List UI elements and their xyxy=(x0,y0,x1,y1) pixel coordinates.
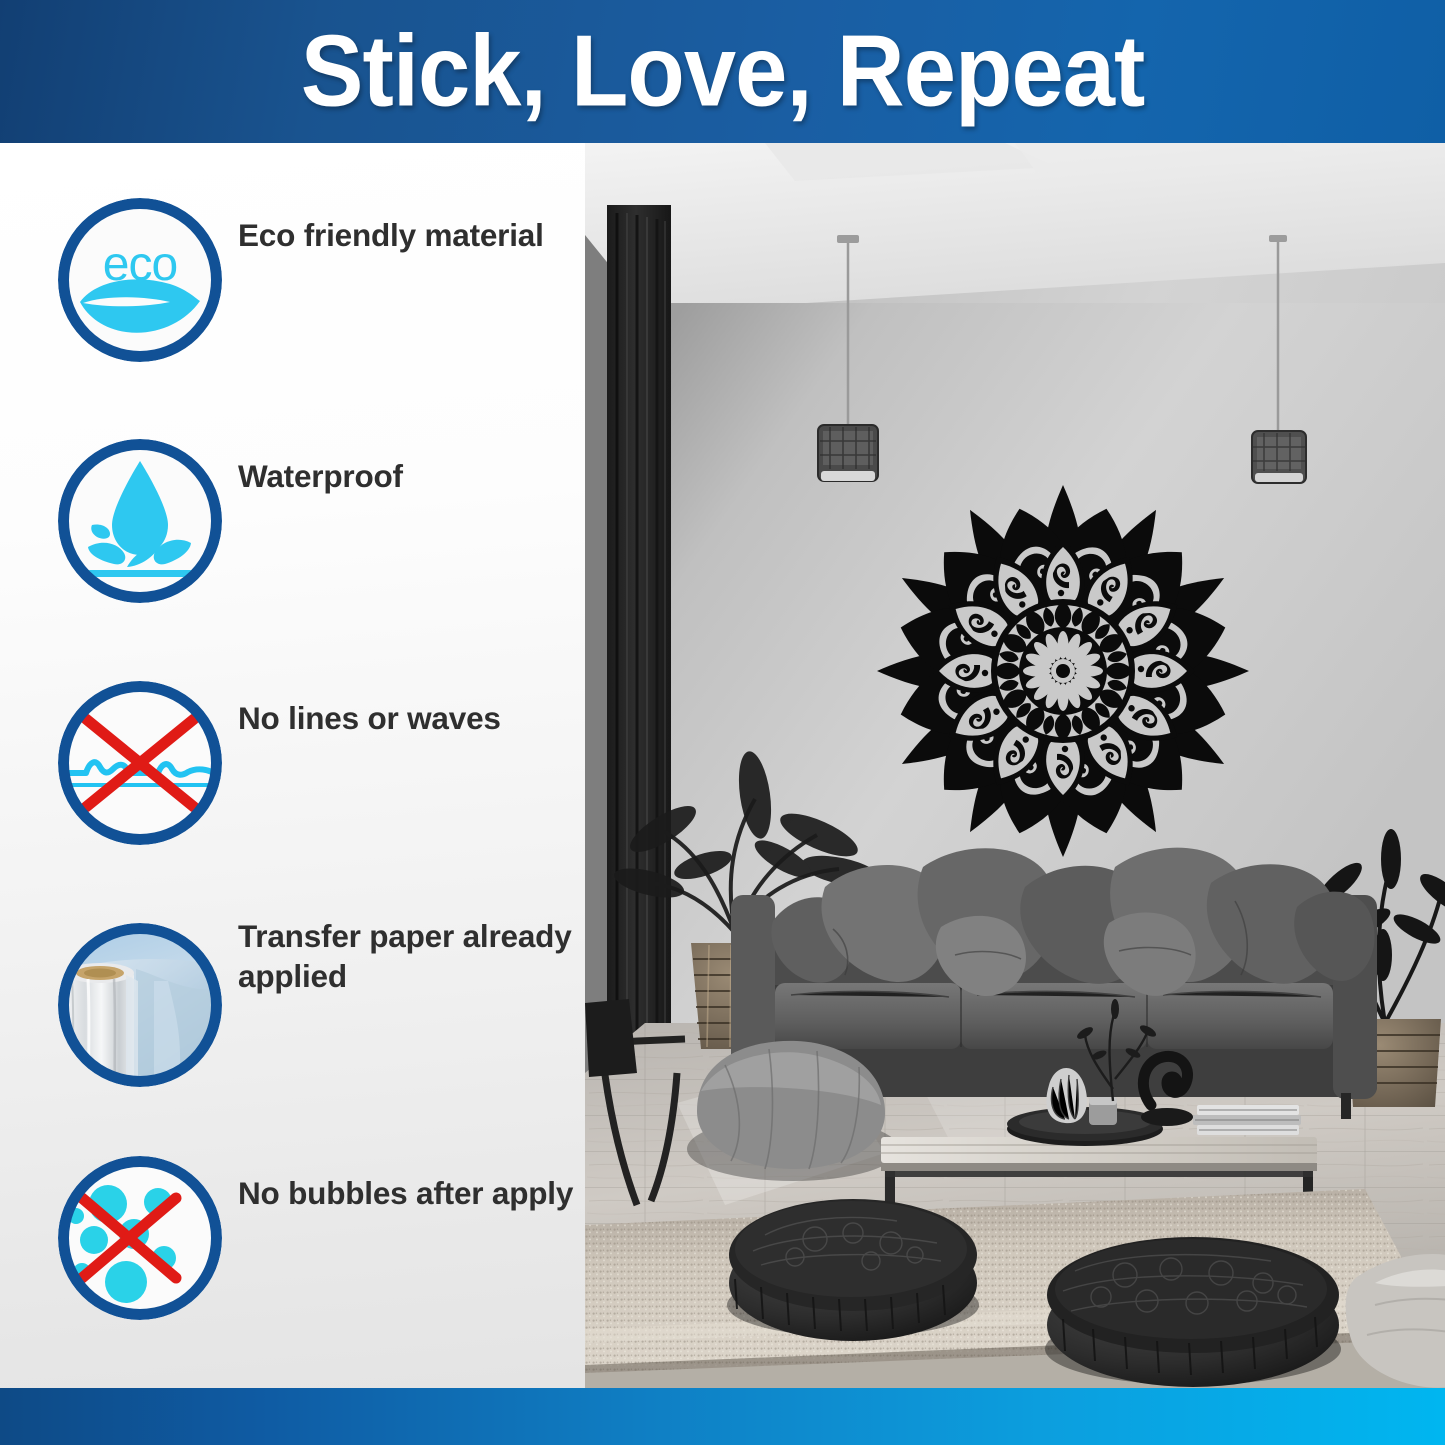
transfer-paper-roll-glyph xyxy=(58,923,222,1087)
features-panel: eco Eco friendly material W xyxy=(0,143,585,1388)
no-waves-icon xyxy=(58,681,222,845)
page-title-text: Stick, Love, Repeat xyxy=(301,21,1145,122)
eco-leaf-icon: eco xyxy=(58,198,222,362)
transfer-paper-roll-icon xyxy=(58,923,222,1087)
header-banner: Stick, Love, Repeat xyxy=(0,0,1445,143)
feature-label-transfer-paper: Transfer paper already applied xyxy=(238,917,574,996)
room-scene xyxy=(585,143,1445,1388)
water-drop-glyph xyxy=(58,439,222,603)
no-bubbles-glyph xyxy=(58,1156,222,1320)
feature-label-eco: Eco friendly material xyxy=(238,216,544,256)
eco-leaf-glyph: eco xyxy=(58,198,222,362)
no-waves-glyph xyxy=(58,681,222,845)
floor-pouf-right xyxy=(1045,1237,1341,1387)
feature-label-waterproof: Waterproof xyxy=(238,457,403,497)
feature-label-no-bubbles: No bubbles after apply xyxy=(238,1174,573,1214)
no-bubbles-icon xyxy=(58,1156,222,1320)
feature-label-no-lines: No lines or waves xyxy=(238,699,501,739)
footer-bar xyxy=(0,1388,1445,1445)
page-title: Stick, Love, Repeat xyxy=(0,21,1445,122)
living-room-mandala-wall-decal-photo xyxy=(585,143,1445,1388)
product-infographic: Stick, Love, Repeat eco Eco friendly mat… xyxy=(0,0,1445,1445)
floor-pouf-left xyxy=(727,1199,979,1341)
water-drop-icon xyxy=(58,439,222,603)
